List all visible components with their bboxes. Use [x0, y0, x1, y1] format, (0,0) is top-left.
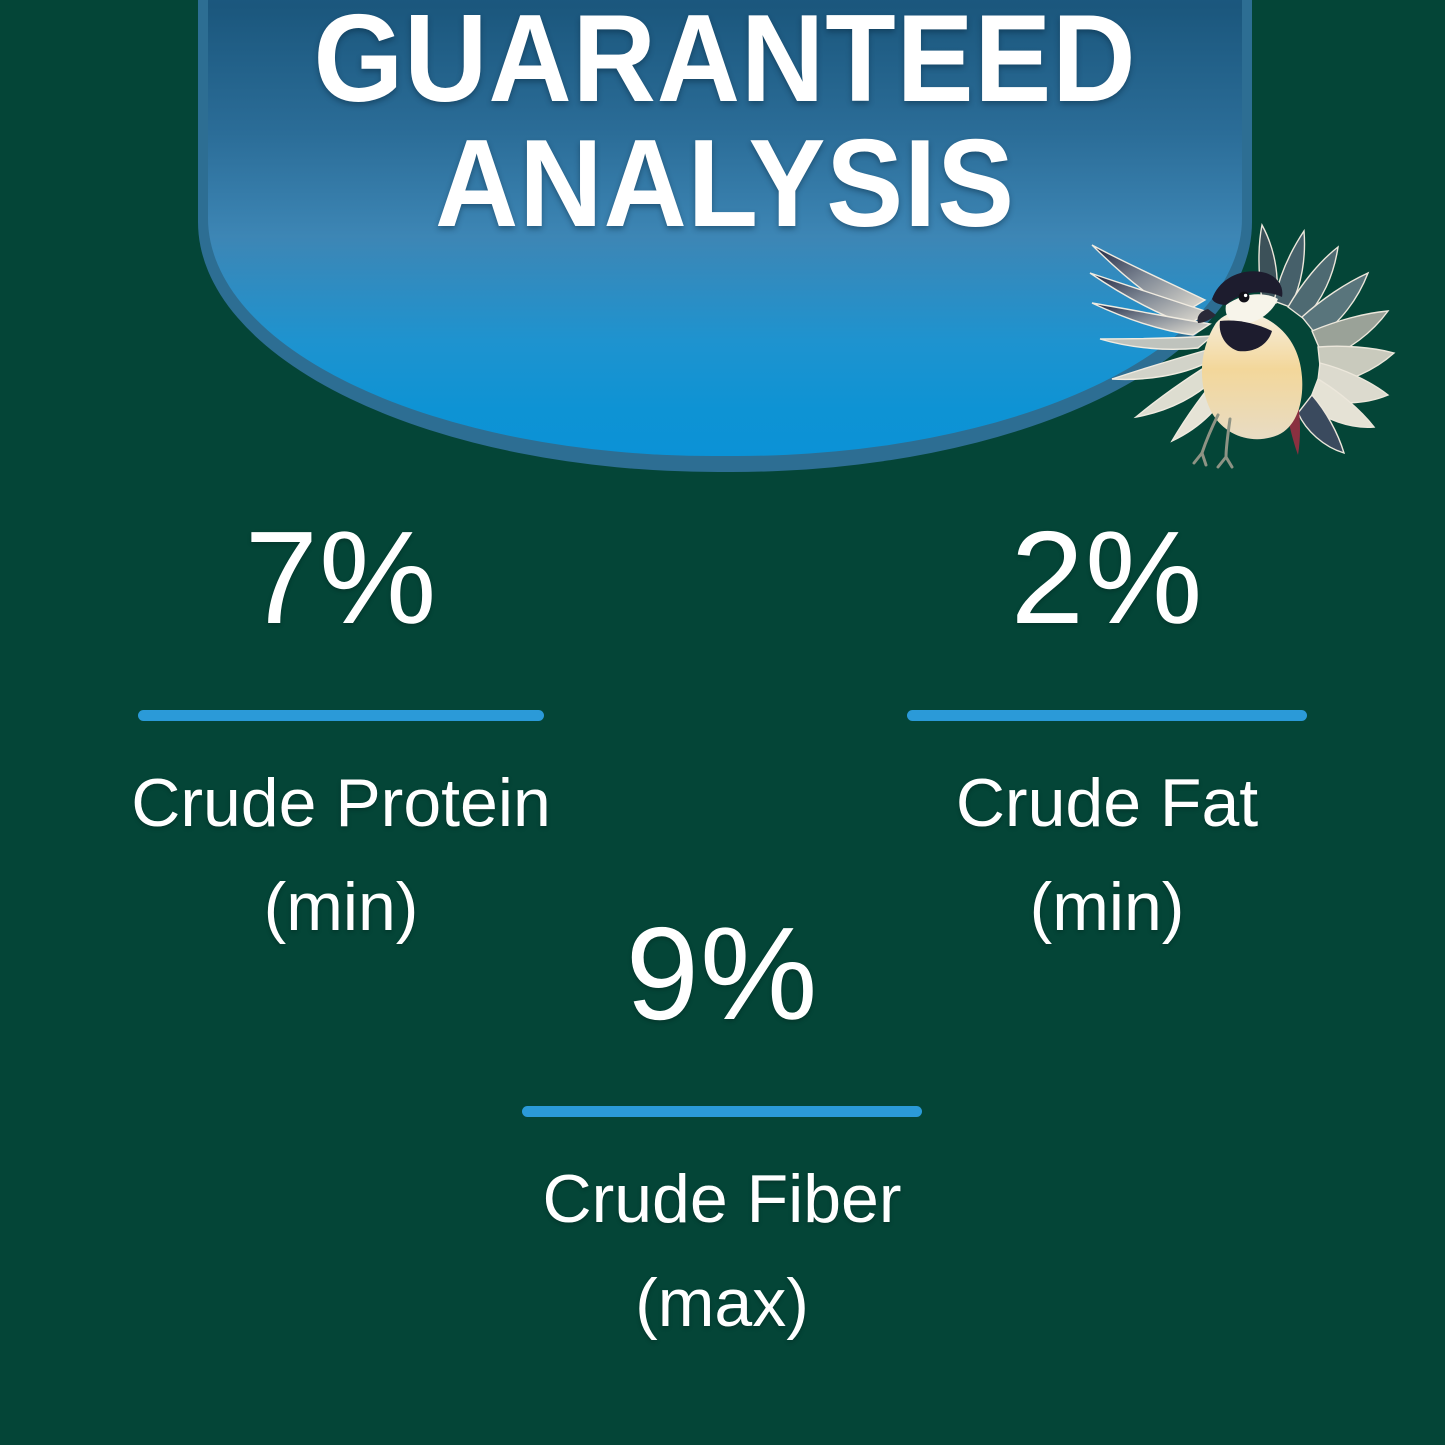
banner-face [208, 0, 1242, 456]
stat-value-fat: 2% [862, 512, 1352, 644]
right-wing [1259, 225, 1394, 453]
stat-value-fiber: 9% [477, 908, 967, 1040]
stat-label-fat: Crude Fat [862, 765, 1352, 841]
stat-label-fiber: Crude Fiber [477, 1161, 967, 1237]
header-banner: GUARANTEED ANALYSIS [198, 0, 1252, 472]
stat-sub-fiber: (max) [477, 1265, 967, 1341]
stat-divider-fat [907, 710, 1307, 721]
stat-value-protein: 7% [96, 512, 586, 644]
guaranteed-analysis-panel: GUARANTEED ANALYSIS [0, 0, 1445, 1445]
tail-feather [1282, 373, 1300, 455]
stat-crude-fiber: 9% Crude Fiber (max) [477, 908, 967, 1341]
stat-label-protein: Crude Protein [96, 765, 586, 841]
stat-divider-protein [138, 710, 544, 721]
stat-crude-fat: 2% Crude Fat (min) [862, 512, 1352, 945]
stat-crude-protein: 7% Crude Protein (min) [96, 512, 586, 945]
stat-divider-fiber [522, 1106, 922, 1117]
